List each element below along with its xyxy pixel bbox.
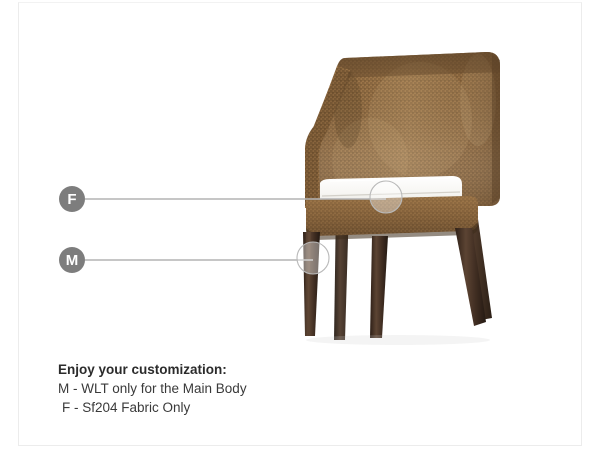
callout-f[interactable]: F	[59, 181, 402, 213]
callout-m-label: M	[66, 252, 79, 269]
callout-m-target-ring[interactable]	[297, 242, 329, 274]
caption-line-main-body: M - WLT only for the Main Body	[58, 379, 498, 398]
callout-m[interactable]: M	[59, 242, 329, 274]
product-customization-viewer: F M Enjoy your customization: M - WLT on…	[0, 0, 600, 450]
customization-caption: Enjoy your customization: M - WLT only f…	[58, 360, 498, 417]
caption-title: Enjoy your customization:	[58, 360, 498, 379]
caption-line-fabric: F - Sf204 Fabric Only	[58, 398, 498, 417]
callout-f-label: F	[67, 191, 76, 208]
callout-f-target-ring[interactable]	[370, 181, 402, 213]
